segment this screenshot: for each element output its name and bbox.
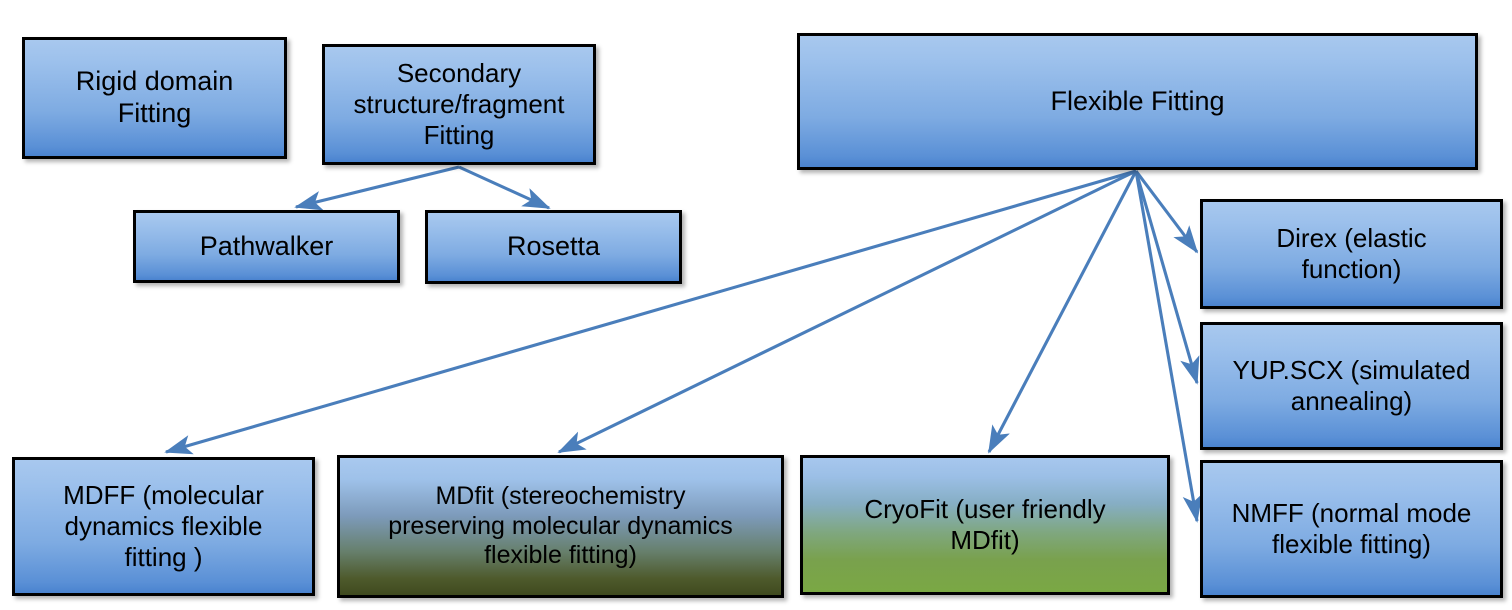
node-rigid-domain-fitting[interactable]: Rigid domain Fitting bbox=[22, 37, 287, 159]
node-direx-label: Direx (elastic function) bbox=[1276, 223, 1426, 284]
node-secondary-structure-fragment-fitting-label: Secondary structure/fragment Fitting bbox=[354, 58, 565, 150]
node-text-line: NMFF (normal mode bbox=[1232, 498, 1472, 529]
node-rosetta-label: Rosetta bbox=[507, 231, 600, 263]
node-text-line: Direx (elastic bbox=[1276, 223, 1426, 254]
node-yup-scx-label: YUP.SCX (simulated annealing) bbox=[1233, 355, 1471, 416]
node-mdff-label: MDFF (molecular dynamics flexible fittin… bbox=[63, 480, 264, 572]
node-secondary-structure-fragment-fitting[interactable]: Secondary structure/fragment Fitting bbox=[322, 44, 596, 165]
node-text-line: MDFF (molecular bbox=[63, 480, 264, 511]
node-text-line: Fitting bbox=[76, 98, 234, 130]
node-text-line: annealing) bbox=[1233, 386, 1471, 417]
node-nmff-label: NMFF (normal mode flexible fitting) bbox=[1232, 498, 1472, 559]
node-mdfit[interactable]: MDfit (stereochemistry preserving molecu… bbox=[337, 455, 784, 598]
edge-flexible-to-cryofit bbox=[989, 171, 1136, 452]
node-nmff[interactable]: NMFF (normal mode flexible fitting) bbox=[1200, 460, 1503, 598]
edge-secondary-to-rosetta bbox=[459, 167, 549, 208]
node-text-line: CryoFit (user friendly bbox=[864, 494, 1105, 525]
node-mdff[interactable]: MDFF (molecular dynamics flexible fittin… bbox=[12, 457, 315, 596]
node-text-line: YUP.SCX (simulated bbox=[1233, 355, 1471, 386]
node-text-line: structure/fragment bbox=[354, 89, 565, 120]
node-rosetta[interactable]: Rosetta bbox=[425, 210, 682, 284]
node-text-line: flexible fitting) bbox=[388, 541, 733, 571]
node-text-line: MDfit (stereochemistry bbox=[388, 482, 733, 512]
edge-flexible-to-yupscx bbox=[1136, 171, 1197, 383]
edge-flexible-to-direx bbox=[1136, 171, 1197, 252]
node-rigid-domain-fitting-label: Rigid domain Fitting bbox=[76, 66, 234, 130]
node-text-line: MDfit) bbox=[864, 525, 1105, 556]
edge-secondary-to-pathwalker bbox=[296, 167, 459, 207]
node-text-line: fitting ) bbox=[63, 542, 264, 573]
node-flexible-fitting[interactable]: Flexible Fitting bbox=[797, 33, 1478, 170]
node-mdfit-label: MDfit (stereochemistry preserving molecu… bbox=[388, 482, 733, 571]
node-direx[interactable]: Direx (elastic function) bbox=[1200, 199, 1503, 309]
node-flexible-fitting-label: Flexible Fitting bbox=[1050, 86, 1224, 118]
node-text-line: preserving molecular dynamics bbox=[388, 512, 733, 542]
node-cryofit[interactable]: CryoFit (user friendly MDfit) bbox=[800, 455, 1170, 595]
node-text-line: Rigid domain bbox=[76, 66, 234, 98]
node-text-line: Secondary bbox=[354, 58, 565, 89]
node-cryofit-label: CryoFit (user friendly MDfit) bbox=[864, 494, 1105, 555]
node-pathwalker[interactable]: Pathwalker bbox=[133, 210, 400, 283]
node-text-line: function) bbox=[1276, 254, 1426, 285]
node-text-line: flexible fitting) bbox=[1232, 529, 1472, 560]
node-text-line: Fitting bbox=[354, 120, 565, 151]
diagram-canvas: Rigid domain Fitting Secondary structure… bbox=[0, 0, 1512, 610]
node-pathwalker-label: Pathwalker bbox=[200, 231, 334, 263]
node-text-line: dynamics flexible bbox=[63, 511, 264, 542]
node-yup-scx[interactable]: YUP.SCX (simulated annealing) bbox=[1200, 322, 1503, 450]
